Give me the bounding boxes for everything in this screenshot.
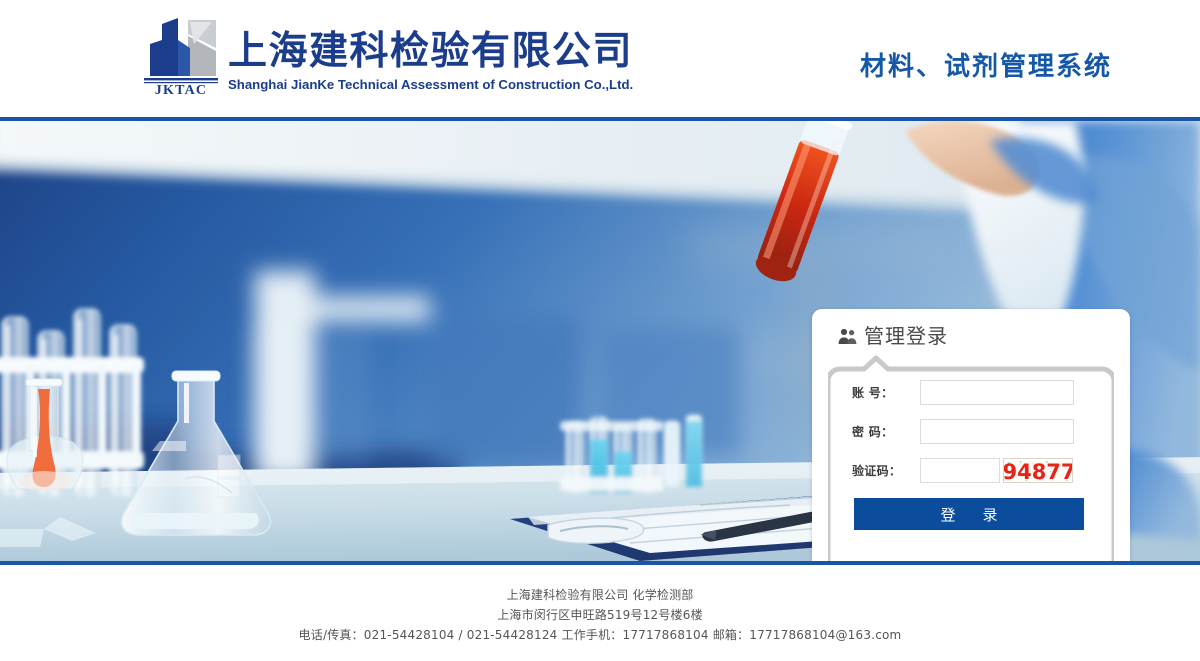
username-label: 账 号： (852, 384, 920, 401)
login-panel-title: 管理登录 (864, 325, 948, 347)
username-input[interactable] (920, 380, 1074, 405)
captcha-label: 验证码： (852, 462, 920, 479)
login-form: 账 号： 密 码： 验证码： (828, 355, 1114, 565)
page-footer: 上海建科检验有限公司 化学检测部 上海市闵行区申旺路519号12号楼6楼 电话/… (0, 565, 1200, 657)
password-label: 密 码： (852, 423, 920, 440)
jktac-building-logo-icon: JKTAC (138, 14, 224, 96)
login-button[interactable]: 登 录 (854, 498, 1084, 530)
captcha-input[interactable] (920, 458, 1000, 483)
field-row-captcha: 验证码： (852, 457, 1092, 484)
password-input[interactable] (920, 419, 1074, 444)
field-row-password: 密 码： (852, 418, 1092, 445)
brand-text: 上海建科检验有限公司 Shanghai JianKe Technical Ass… (228, 29, 633, 96)
users-group-icon (838, 328, 857, 345)
page-header: JKTAC 上海建科检验有限公司 Shanghai JianKe Technic… (0, 0, 1200, 117)
submit-row: 登 录 (852, 498, 1092, 530)
captcha-image[interactable]: 94877 (1003, 458, 1073, 483)
footer-line-company: 上海建科检验有限公司 化学检测部 (0, 585, 1200, 605)
hero-banner: 管理登录 账 号： 密 码： 验证码： (0, 117, 1200, 565)
field-row-username: 账 号： (852, 379, 1092, 406)
footer-line-contact: 电话/传真：021-54428104 / 021-54428124 工作手机：1… (0, 625, 1200, 645)
brand-block: JKTAC 上海建科检验有限公司 Shanghai JianKe Technic… (138, 14, 633, 96)
company-name-en: Shanghai JianKe Technical Assessment of … (228, 76, 633, 94)
system-title: 材料、试剂管理系统 (860, 46, 1112, 83)
login-panel: 管理登录 账 号： 密 码： 验证码： (812, 309, 1130, 565)
company-name-cn: 上海建科检验有限公司 (228, 29, 633, 75)
footer-line-address: 上海市闵行区申旺路519号12号楼6楼 (0, 605, 1200, 625)
login-panel-header: 管理登录 (838, 321, 948, 351)
svg-text:JKTAC: JKTAC (155, 83, 207, 96)
login-fieldset: 账 号： 密 码： 验证码： (828, 355, 1114, 565)
captcha-code: 94877 (1004, 459, 1073, 483)
login-page: JKTAC 上海建科检验有限公司 Shanghai JianKe Technic… (0, 0, 1200, 661)
